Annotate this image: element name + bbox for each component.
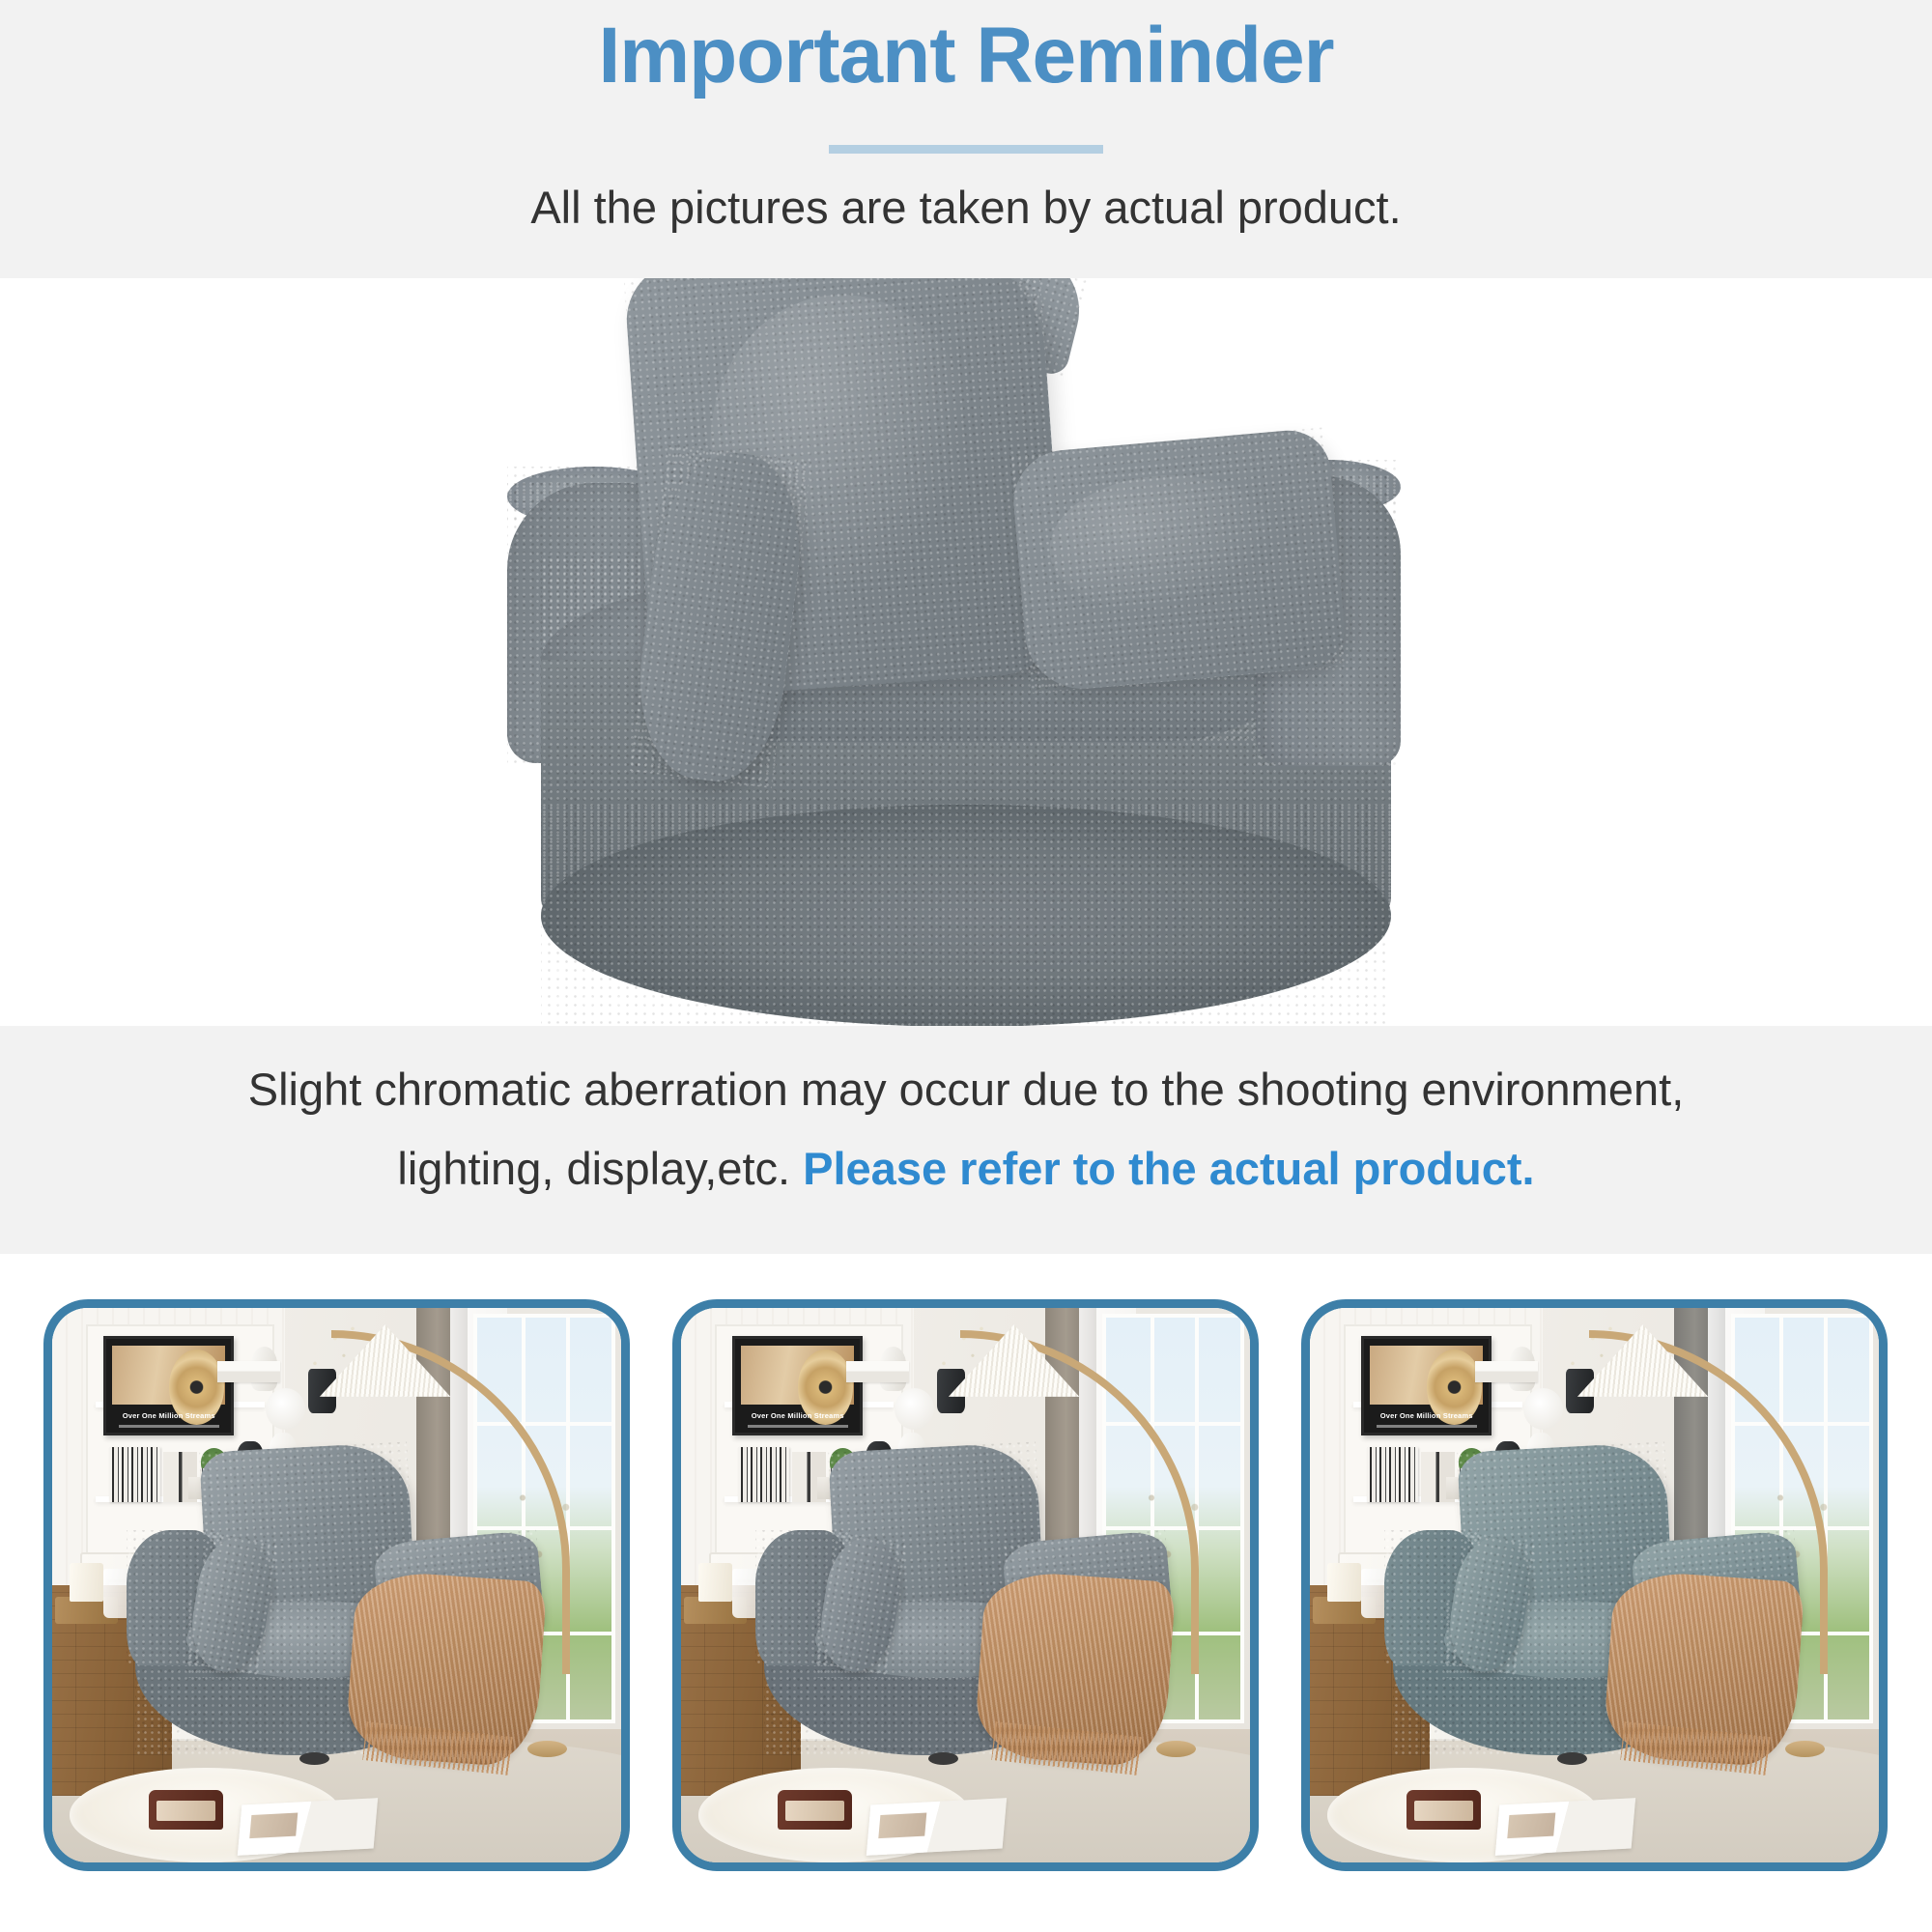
swivel-chair-2 [755,1447,1188,1769]
poster-caption: Over One Million Streams [111,1411,226,1420]
white-round-vase [1523,1388,1563,1430]
stacked-books-top [846,1361,909,1383]
framed-poster: Over One Million Streams [103,1336,234,1435]
gallery-thumbnail-3[interactable]: Over One Million Streams [1301,1299,1888,1871]
disclaimer-line-1: Slight chromatic aberration may occur du… [0,1061,1932,1119]
white-round-vase [266,1388,305,1430]
candle [70,1563,103,1602]
product-infographic-page: Important Reminder All the pictures are … [0,0,1932,1932]
page-title: Important Reminder [0,8,1932,104]
room-scene-2: Over One Million Streams [681,1308,1250,1862]
disclaimer-banner: Slight chromatic aberration may occur du… [0,1026,1932,1254]
disclaimer-line-2-plain: lighting, display,etc. [397,1143,803,1194]
vintage-radio [1406,1790,1481,1829]
round-swivel-chair-illustration [483,278,1449,1026]
header-banner: Important Reminder All the pictures are … [0,0,1932,278]
gallery-thumbnail-1[interactable]: Over One Million Streams [43,1299,630,1871]
title-divider [829,145,1103,154]
swivel-base-foot [1557,1752,1587,1765]
hero-product-image [0,278,1932,1026]
framed-poster: Over One Million Streams [1361,1336,1492,1435]
swivel-chair-1 [127,1447,559,1769]
poster-caption: Over One Million Streams [740,1411,855,1420]
vintage-radio [149,1790,223,1829]
stacked-books-top [1475,1361,1538,1383]
disclaimer-emphasis: Please refer to the actual product. [803,1143,1534,1194]
vintage-radio [778,1790,852,1829]
stacked-books-top [217,1361,280,1383]
poster-subcaption [119,1425,219,1428]
poster-subcaption [748,1425,848,1428]
lumbar-pillow-right [1009,427,1348,694]
swivel-base-foot [928,1752,958,1765]
poster-caption: Over One Million Streams [1369,1411,1484,1420]
candle [698,1563,732,1602]
disclaimer-line-2: lighting, display,etc. Please refer to t… [0,1140,1932,1198]
open-magazine [867,1798,1008,1855]
swivel-base-foot [299,1752,329,1765]
room-scene-3: Over One Million Streams [1310,1308,1879,1862]
open-magazine [238,1798,379,1855]
room-scene-1: Over One Million Streams [52,1308,621,1862]
lifestyle-gallery: Over One Million Streams [43,1299,1889,1871]
swivel-chair-3 [1384,1447,1817,1769]
header-subtitle: All the pictures are taken by actual pro… [0,178,1932,238]
gallery-thumbnail-2[interactable]: Over One Million Streams [672,1299,1259,1871]
seat-platform-bottom [541,805,1391,1026]
open-magazine [1495,1798,1636,1855]
white-round-vase [895,1388,934,1430]
framed-poster: Over One Million Streams [732,1336,863,1435]
candle [1327,1563,1361,1602]
poster-subcaption [1377,1425,1477,1428]
